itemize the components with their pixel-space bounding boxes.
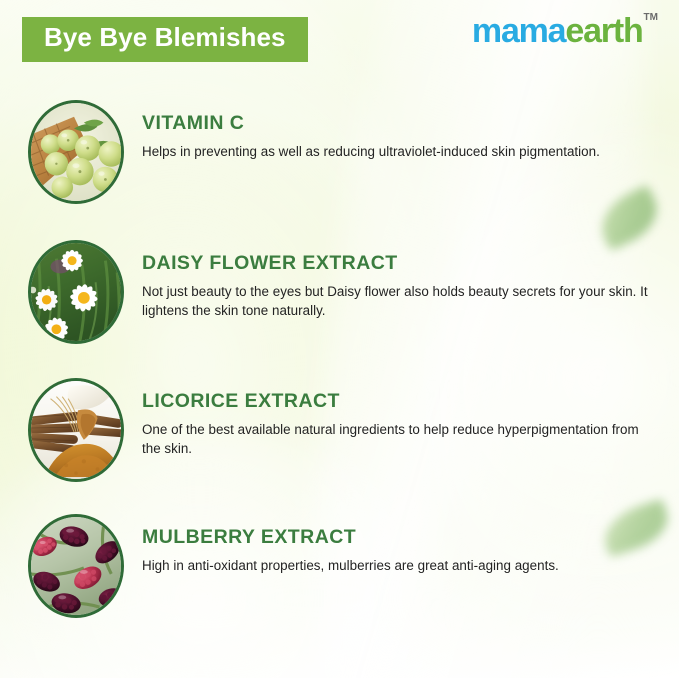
mulberry-berries-photo — [31, 517, 121, 615]
list-item: VITAMIN C Helps in preventing as well as… — [0, 96, 679, 236]
brand-logo: mamaearthTM — [472, 14, 657, 48]
ingredient-text: VITAMIN C Helps in preventing as well as… — [124, 96, 679, 161]
ingredient-description: Helps in preventing as well as reducing … — [142, 142, 653, 162]
licorice-root-and-powder-photo — [31, 381, 121, 479]
page-title-banner: Bye Bye Blemishes — [22, 17, 308, 62]
ingredient-title: VITAMIN C — [142, 114, 653, 134]
ingredient-thumbnail — [28, 514, 124, 618]
ingredient-description: Not just beauty to the eyes but Daisy fl… — [142, 282, 653, 321]
brand-logo-earth: earth — [565, 12, 642, 50]
brand-logo-mama: mama — [472, 12, 565, 50]
list-item: DAISY FLOWER EXTRACT Not just beauty to … — [0, 236, 679, 374]
trademark-icon: TM — [644, 12, 658, 23]
list-item: MULBERRY EXTRACT High in anti-oxidant pr… — [0, 510, 679, 640]
ingredient-thumbnail — [28, 100, 124, 204]
ingredient-text: DAISY FLOWER EXTRACT Not just beauty to … — [124, 236, 679, 321]
header: Bye Bye Blemishes mamaearthTM — [0, 0, 679, 78]
ingredient-description: One of the best available natural ingred… — [142, 420, 653, 459]
ingredient-description: High in anti-oxidant properties, mulberr… — [142, 556, 653, 576]
ingredient-text: MULBERRY EXTRACT High in anti-oxidant pr… — [124, 510, 679, 575]
ingredient-thumbnail — [28, 378, 124, 482]
ingredient-thumbnail — [28, 240, 124, 344]
white-daisy-flowers-photo — [31, 243, 121, 341]
ingredient-list: VITAMIN C Helps in preventing as well as… — [0, 96, 679, 640]
infographic-page: Bye Bye Blemishes mamaearthTM — [0, 0, 679, 678]
ingredient-title: LICORICE EXTRACT — [142, 392, 653, 412]
ingredient-text: LICORICE EXTRACT One of the best availab… — [124, 374, 679, 459]
ingredient-title: MULBERRY EXTRACT — [142, 528, 653, 548]
list-item: LICORICE EXTRACT One of the best availab… — [0, 374, 679, 510]
ingredient-title: DAISY FLOWER EXTRACT — [142, 254, 653, 274]
amla-gooseberry-basket-photo — [31, 103, 121, 201]
